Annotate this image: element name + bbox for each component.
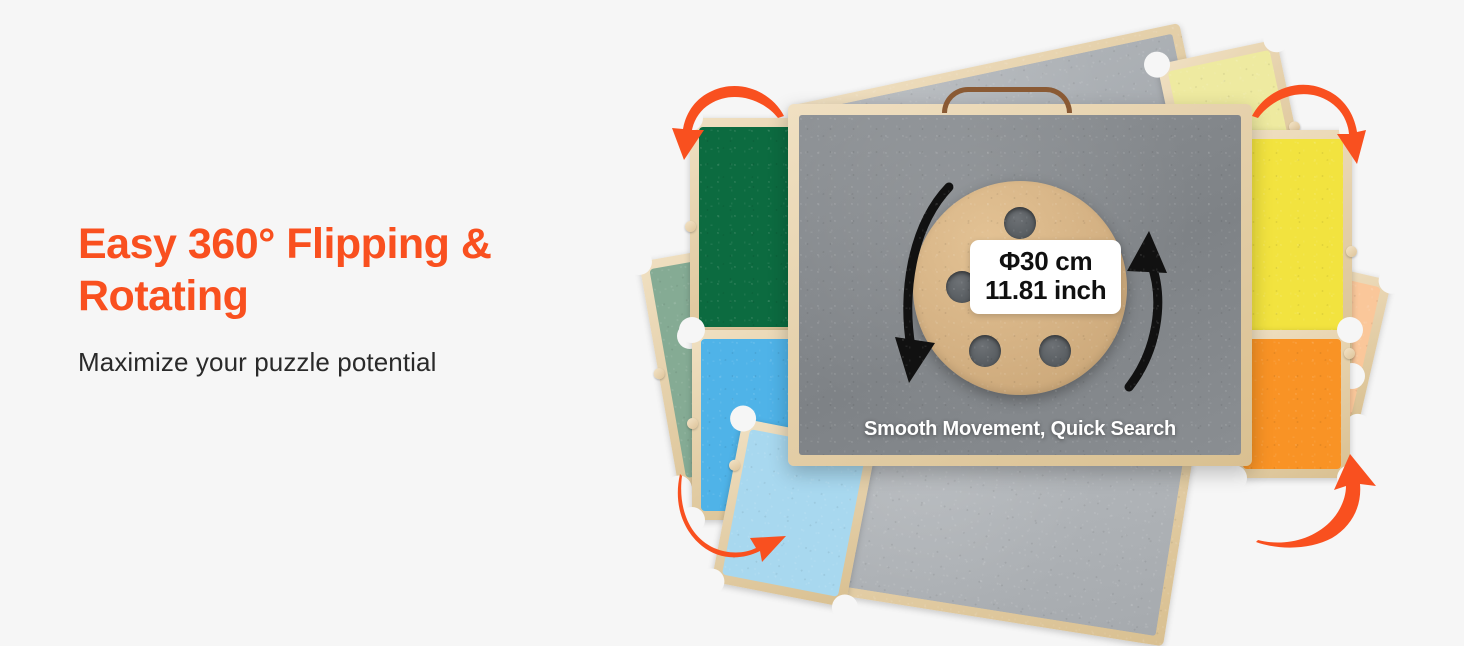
rotate-arrow-top-right-icon: [1244, 82, 1366, 178]
dimension-metric: Φ30 cm: [985, 247, 1106, 276]
tray-peg: [685, 221, 696, 232]
disc-hole: [1004, 207, 1036, 239]
dimension-imperial: 11.81 inch: [985, 276, 1106, 305]
tray-peg: [687, 418, 698, 429]
carry-handle: [942, 87, 1072, 113]
rotate-arrow-bottom-right-icon: [1252, 446, 1382, 550]
tray-notch: [1337, 317, 1363, 343]
page-subtitle: Maximize your puzzle potential: [78, 347, 598, 378]
tray-notch: [1221, 465, 1247, 491]
disc-hole: [969, 335, 1001, 367]
page-title: Easy 360° Flipping & Rotating: [78, 218, 598, 323]
tray-notch: [679, 317, 705, 343]
tray-notch: [1376, 265, 1407, 296]
product-illustration: Smooth Movement, Quick Search Φ30 cm 11.…: [640, 0, 1464, 600]
tray-peg: [1344, 348, 1355, 359]
dimension-badge: Φ30 cm 11.81 inch: [970, 240, 1121, 314]
rotate-arrow-bottom-left-icon: [674, 466, 796, 562]
marketing-copy: Easy 360° Flipping & Rotating Maximize y…: [78, 218, 598, 378]
tray-peg: [653, 367, 666, 380]
tray-peg: [1346, 246, 1357, 257]
product-caption: Smooth Movement, Quick Search: [799, 418, 1241, 441]
disc-hole: [1039, 335, 1071, 367]
rotate-arrow-top-left-icon: [670, 84, 790, 176]
